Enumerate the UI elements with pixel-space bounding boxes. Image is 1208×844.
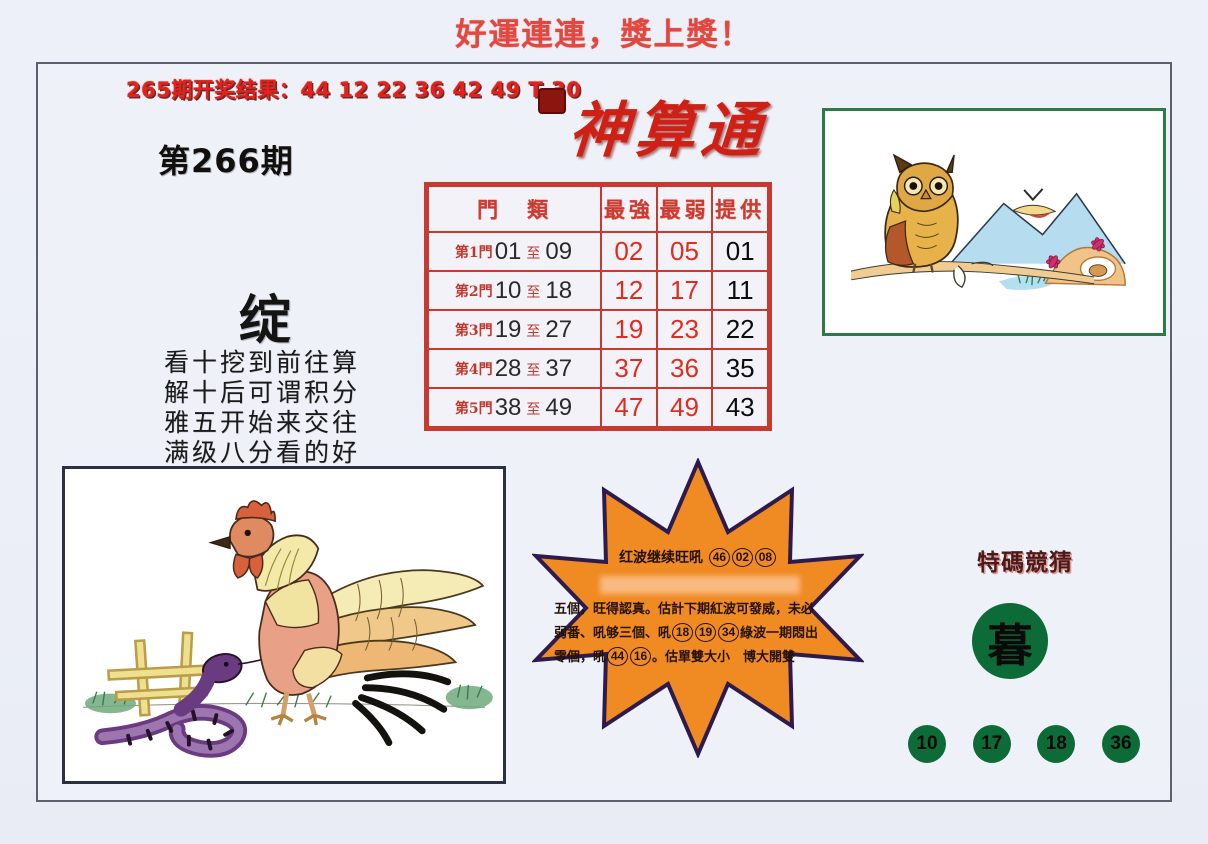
starburst-line-2-number: 34	[718, 623, 739, 642]
gate-zhi: 至	[526, 324, 540, 340]
poem-line: 解十后可谓积分	[142, 378, 382, 408]
cell-weakest: 49	[657, 388, 713, 427]
rooster-illustration	[72, 476, 496, 774]
gate-label: 第2門	[455, 284, 493, 300]
poem-line: 满级八分看的好	[142, 438, 382, 468]
table-row: 第5門38至49 47 49 43	[428, 388, 768, 427]
cell-offer: 01	[712, 232, 768, 271]
poster-page: 好運連連，獎上獎！ 265期开奖结果：44 12 22 36 42 49 T 3…	[0, 0, 1208, 844]
table-row: 第3門19至27 19 23 22	[428, 310, 768, 349]
fortune-glyph: 绽	[150, 278, 380, 353]
special-pick-main-ball: 暮	[972, 603, 1048, 679]
gate-from: 19	[495, 316, 522, 343]
gate-label: 第5門	[455, 401, 493, 417]
starburst-line-2-suffix: 綠波一期悶出	[740, 626, 818, 641]
starburst-line-1: 五個，旺得認真。估計下期紅波可發威，未必	[554, 598, 848, 622]
cell-strongest: 02	[601, 232, 657, 271]
cell-strongest: 37	[601, 349, 657, 388]
table-row: 第1門01至09 02 05 01	[428, 232, 768, 271]
starburst-headline-number: 02	[732, 548, 753, 567]
cell-strongest: 19	[601, 310, 657, 349]
gate-from: 28	[495, 355, 522, 382]
gate-label: 第1門	[455, 245, 493, 261]
cell-weakest: 23	[657, 310, 713, 349]
starburst-line-3-number: 16	[630, 647, 651, 666]
starburst-content: 红波继续旺吼 460208 五個，旺得認真。估計下期紅波可發威，未必 弱番、吼够…	[532, 458, 864, 758]
gate-zhi: 至	[526, 285, 540, 301]
owl-illustration	[832, 118, 1156, 326]
fortune-poem: 看十挖到前往算 解十后可谓积分 雅五开始来交往 满级八分看的好	[142, 348, 382, 468]
cell-weakest: 17	[657, 271, 713, 310]
starburst-headline-number: 46	[709, 548, 730, 567]
gate-range-cell: 第3門19至27	[428, 310, 601, 349]
gate-to: 49	[545, 394, 572, 421]
rooster-illustration-frame	[62, 466, 506, 784]
brand-title: 神算通	[533, 92, 802, 170]
gate-table: 門 類 最強 最弱 提供 第1門01至09 02 05 01 第2門10至18 …	[424, 182, 772, 431]
special-pick-number-row: 10 17 18 36	[908, 725, 1140, 763]
gate-from: 38	[495, 394, 522, 421]
brand-logo: 神算通	[536, 92, 800, 172]
banner-slogan: 好運連連，獎上獎！	[456, 9, 753, 54]
starburst-line-2: 弱番、吼够三個、吼181934綠波一期悶出	[554, 622, 848, 646]
special-pick-number: 10	[908, 725, 946, 763]
starburst-line-3-number: 44	[607, 647, 628, 666]
gate-label: 第4門	[455, 362, 493, 378]
table-row: 第4門28至37 37 36 35	[428, 349, 768, 388]
gate-range-cell: 第2門10至18	[428, 271, 601, 310]
starburst-line-2-prefix: 弱番、吼够三個、吼	[554, 626, 671, 641]
starburst-line-3: 零個，吼4416。估單雙大小 博大開雙	[554, 646, 848, 670]
owl-illustration-frame	[822, 108, 1166, 336]
starburst-headline-text: 红波继续旺吼	[619, 550, 703, 566]
starburst-panel: 红波继续旺吼 460208 五個，旺得認真。估計下期紅波可發威，未必 弱番、吼够…	[532, 458, 864, 758]
special-pick-number: 36	[1102, 725, 1140, 763]
poem-line: 雅五开始来交往	[142, 408, 382, 438]
starburst-line-2-number: 19	[695, 623, 716, 642]
gate-from: 01	[495, 238, 522, 265]
starburst-body: 五個，旺得認真。估計下期紅波可發威，未必 弱番、吼够三個、吼181934綠波一期…	[554, 598, 848, 670]
header-strongest: 最強	[601, 186, 657, 232]
cell-strongest: 47	[601, 388, 657, 427]
starburst-line-2-number: 18	[672, 623, 693, 642]
gate-zhi: 至	[526, 402, 540, 418]
header-gate-class: 門 類	[428, 186, 601, 232]
issue-number: 第266期	[158, 136, 294, 182]
cell-offer: 22	[712, 310, 768, 349]
gate-range-cell: 第5門38至49	[428, 388, 601, 427]
gate-zhi: 至	[526, 246, 540, 262]
gate-zhi: 至	[526, 363, 540, 379]
starburst-headline-number: 08	[755, 548, 776, 567]
gate-to: 18	[545, 277, 572, 304]
table-row: 第2門10至18 12 17 11	[428, 271, 768, 310]
starburst-line-3-prefix: 零個，吼	[554, 650, 606, 665]
top-banner: 好運連連，獎上獎！	[0, 0, 1208, 62]
cell-weakest: 05	[657, 232, 713, 271]
gate-to: 09	[545, 238, 572, 265]
header-weakest: 最弱	[657, 186, 713, 232]
starburst-highlight	[600, 576, 800, 594]
special-pick-number: 18	[1037, 725, 1075, 763]
gate-from: 10	[495, 277, 522, 304]
starburst-line-3-suffix: 。估單雙大小 博大開雙	[652, 650, 795, 665]
gate-range-cell: 第4門28至37	[428, 349, 601, 388]
header-offer: 提供	[712, 186, 768, 232]
cell-strongest: 12	[601, 271, 657, 310]
cell-weakest: 36	[657, 349, 713, 388]
cell-offer: 43	[712, 388, 768, 427]
previous-draw-result: 265期开奖结果：44 12 22 36 42 49 T 30	[126, 74, 581, 104]
table-header-row: 門 類 最強 最弱 提供	[428, 186, 768, 232]
starburst-headline: 红波继续旺吼 460208	[532, 547, 864, 567]
special-pick-number: 17	[973, 725, 1011, 763]
cell-offer: 11	[712, 271, 768, 310]
cell-offer: 35	[712, 349, 768, 388]
special-pick-panel: 特碼競猜 暮 10 17 18 36	[900, 543, 1150, 783]
gate-to: 37	[545, 355, 572, 382]
gate-label: 第3門	[455, 323, 493, 339]
gate-to: 27	[545, 316, 572, 343]
special-pick-title: 特碼競猜	[900, 543, 1150, 577]
gate-range-cell: 第1門01至09	[428, 232, 601, 271]
poem-line: 看十挖到前往算	[142, 348, 382, 378]
